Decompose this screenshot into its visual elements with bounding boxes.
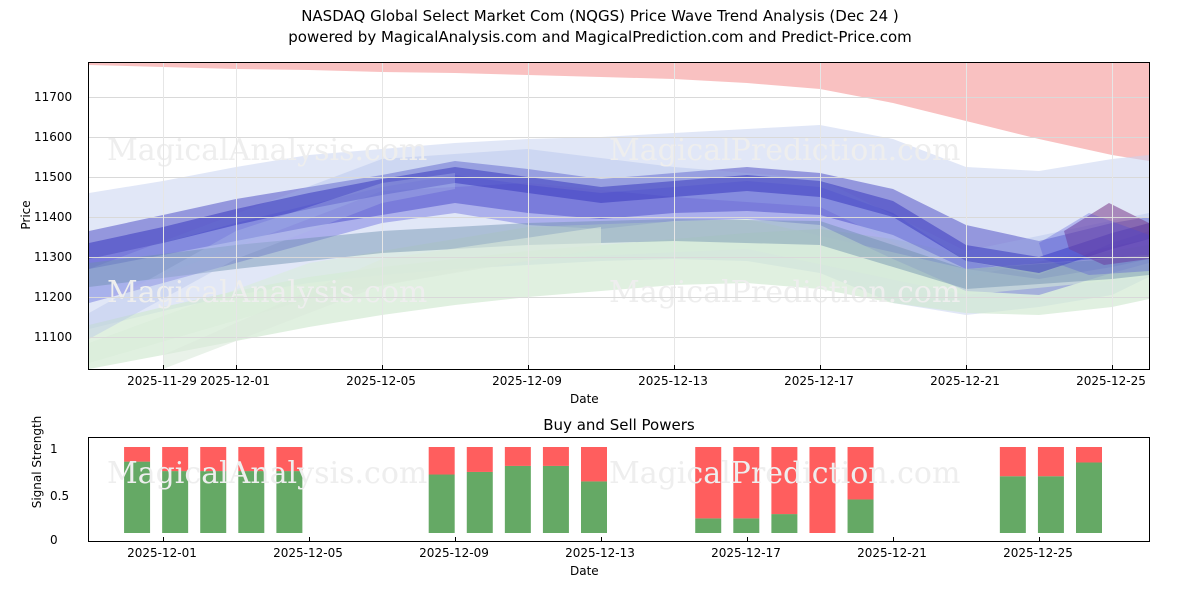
price-wave-chart-plot-area: MagicalAnalysis.com MagicalPrediction.co… (88, 62, 1150, 370)
sell-bar (505, 447, 531, 466)
x-tick-u-3: 2025-12-05 (321, 374, 441, 388)
sell-bar (543, 447, 569, 466)
buy-bar (581, 481, 607, 533)
page-title: NASDAQ Global Select Market Com (NQGS) P… (0, 6, 1200, 48)
upper-y-axis-title: Price (19, 185, 33, 245)
y-tick-11700: 11700 (34, 90, 72, 104)
title-line-1: NASDAQ Global Select Market Com (NQGS) P… (0, 6, 1200, 27)
upper-x-axis-title: Date (570, 392, 599, 406)
lower-chart-title: Buy and Sell Powers (88, 416, 1150, 434)
y-tick-11600: 11600 (34, 130, 72, 144)
buy-bar (695, 518, 721, 533)
lower-x-axis-title: Date (570, 564, 599, 578)
lower-y-axis-title: Signal Strength (30, 407, 44, 517)
title-line-2: powered by MagicalAnalysis.com and Magic… (0, 27, 1200, 48)
watermark-4: MagicalPrediction.com (609, 275, 960, 310)
sell-bar (1038, 447, 1064, 476)
watermark-3: MagicalAnalysis.com (107, 275, 427, 310)
watermark-1: MagicalAnalysis.com (107, 133, 427, 168)
watermark-5: MagicalAnalysis.com (107, 456, 427, 491)
x-tick-l-1: 2025-12-01 (102, 546, 222, 560)
buy-bar (1000, 476, 1026, 533)
y-tick-l-0.0: 0 (50, 533, 58, 547)
buy-bar (848, 499, 874, 533)
buy-bar (429, 475, 455, 533)
buy-bar (467, 472, 493, 533)
buy-bar (505, 466, 531, 533)
x-tick-u-7: 2025-12-21 (905, 374, 1025, 388)
x-tick-l-2: 2025-12-05 (248, 546, 368, 560)
buy-sell-powers-plot-area: MagicalAnalysis.com MagicalPrediction.co… (88, 437, 1150, 542)
y-tick-11200: 11200 (34, 290, 72, 304)
x-tick-u-6: 2025-12-17 (759, 374, 879, 388)
x-tick-l-5: 2025-12-17 (686, 546, 806, 560)
price-wave-curves (89, 63, 1149, 369)
buy-bar (1038, 476, 1064, 533)
y-tick-l-1.0: 1 (50, 442, 58, 456)
x-tick-u-4: 2025-12-09 (467, 374, 587, 388)
y-tick-11400: 11400 (34, 210, 72, 224)
x-tick-l-6: 2025-12-21 (832, 546, 952, 560)
x-tick-l-3: 2025-12-09 (394, 546, 514, 560)
watermark-6: MagicalPrediction.com (609, 456, 960, 491)
buy-bar (733, 518, 759, 533)
y-tick-11100: 11100 (34, 330, 72, 344)
sell-bar (1000, 447, 1026, 476)
chart-page: NASDAQ Global Select Market Com (NQGS) P… (0, 0, 1200, 600)
buy-bar (1076, 462, 1102, 533)
x-tick-u-5: 2025-12-13 (613, 374, 733, 388)
x-tick-u-8: 2025-12-25 (1051, 374, 1171, 388)
buy-bar (771, 514, 797, 533)
y-tick-l-0.5: 0.5 (50, 489, 69, 503)
x-tick-l-7: 2025-12-25 (978, 546, 1098, 560)
sell-bar (467, 447, 493, 472)
y-tick-11500: 11500 (34, 170, 72, 184)
sell-bar (429, 447, 455, 475)
sell-bar (581, 447, 607, 481)
sell-bar (1076, 447, 1102, 462)
y-tick-11300: 11300 (34, 250, 72, 264)
x-tick-l-4: 2025-12-13 (540, 546, 660, 560)
x-tick-u-2: 2025-12-01 (175, 374, 295, 388)
buy-bar (543, 466, 569, 533)
watermark-2: MagicalPrediction.com (609, 133, 960, 168)
